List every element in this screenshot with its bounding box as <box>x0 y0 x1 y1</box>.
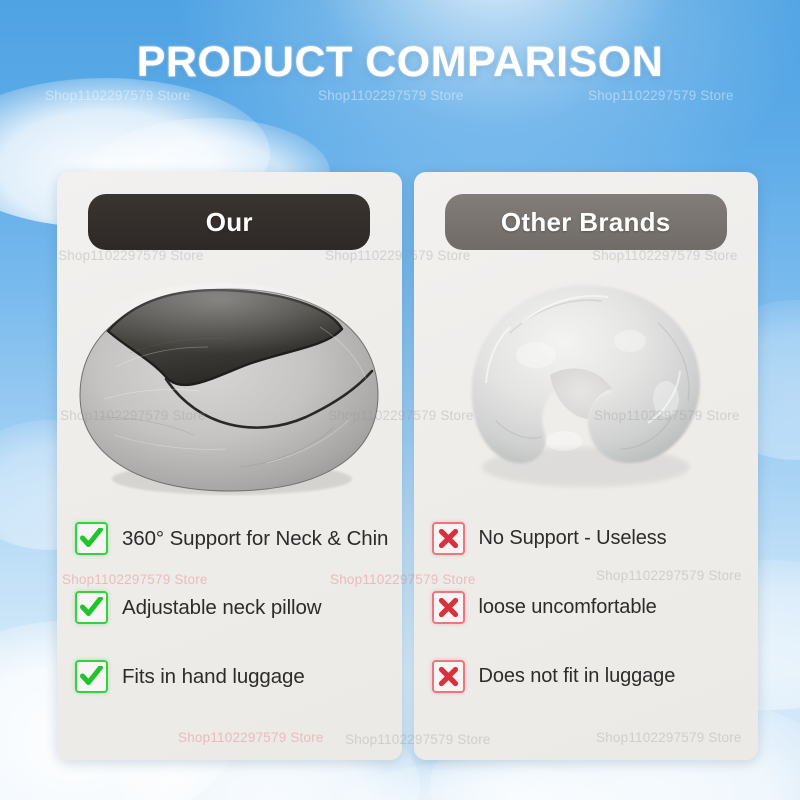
feature-item: Does not fit in luggage <box>432 660 759 693</box>
product-image-our <box>57 256 402 514</box>
feature-label: Does not fit in luggage <box>479 665 676 688</box>
page-title: PRODUCT COMPARISON <box>0 38 800 87</box>
feature-item: No Support - Useless <box>432 522 759 555</box>
feature-item: Fits in hand luggage <box>75 660 402 693</box>
cross-icon <box>432 660 465 693</box>
feature-label: No Support - Useless <box>479 527 667 550</box>
check-icon <box>75 591 108 624</box>
comparison-column-our: Our <box>57 172 402 760</box>
cross-icon <box>432 591 465 624</box>
feature-list-our: 360° Support for Neck & Chin Adjustable … <box>57 514 402 693</box>
check-icon <box>75 522 108 555</box>
feature-label: Fits in hand luggage <box>122 665 305 689</box>
feature-list-other: No Support - Useless loose uncomfortable… <box>414 514 759 693</box>
badge-other-brands: Other Brands <box>445 194 727 250</box>
badge-our: Our <box>88 194 370 250</box>
check-icon <box>75 660 108 693</box>
neck-pillow-other-svg <box>452 271 720 499</box>
cloud-decoration <box>330 760 630 800</box>
comparison-container: Our <box>57 172 758 760</box>
comparison-column-other: Other Brands <box>414 172 759 760</box>
neck-pillow-our-svg <box>70 267 388 503</box>
feature-item: 360° Support for Neck & Chin <box>75 522 402 555</box>
feature-label: 360° Support for Neck & Chin <box>122 527 388 551</box>
feature-label: Adjustable neck pillow <box>122 596 322 620</box>
cross-icon <box>432 522 465 555</box>
feature-item: Adjustable neck pillow <box>75 591 402 624</box>
product-image-other <box>414 256 759 514</box>
feature-label: loose uncomfortable <box>479 596 657 619</box>
feature-item: loose uncomfortable <box>432 591 759 624</box>
